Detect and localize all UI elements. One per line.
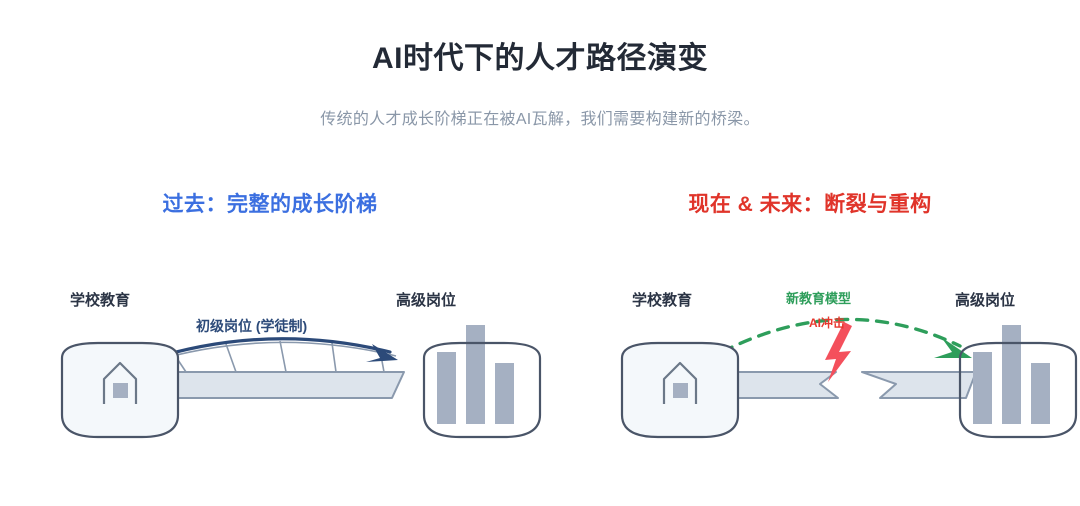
bar-3 [1031, 363, 1050, 424]
school-window-icon [673, 383, 688, 398]
node-school-future [622, 343, 738, 437]
node-senior-future [960, 325, 1076, 437]
caption-school-future: 学校教育 [632, 289, 692, 310]
bridge-label-past: 初级岗位 (学徒制) [196, 316, 307, 336]
bar-chart-icon [973, 325, 1050, 424]
bar-chart-icon [437, 325, 514, 424]
school-window-icon [113, 383, 128, 398]
caption-senior-past: 高级岗位 [396, 289, 456, 310]
caption-senior-future: 高级岗位 [955, 289, 1015, 310]
diagram-canvas [0, 0, 1080, 506]
node-senior-past [424, 325, 540, 437]
node-school-past [62, 343, 178, 437]
bar-1 [437, 352, 456, 424]
infographic-root: AI时代下的人才路径演变 传统的人才成长阶梯正在被AI瓦解，我们需要构建新的桥梁… [0, 0, 1080, 506]
bridge-deck [148, 372, 404, 398]
bar-3 [495, 363, 514, 424]
caption-school-past: 学校教育 [70, 289, 130, 310]
bar-2 [466, 325, 485, 424]
bar-1 [973, 352, 992, 424]
bridge-intact [148, 339, 404, 398]
bridge-broken [712, 322, 976, 398]
bar-2 [1002, 325, 1021, 424]
ai-disruption-label: AI冲击 [809, 314, 845, 331]
new-model-label: 新教育模型 [786, 288, 851, 307]
